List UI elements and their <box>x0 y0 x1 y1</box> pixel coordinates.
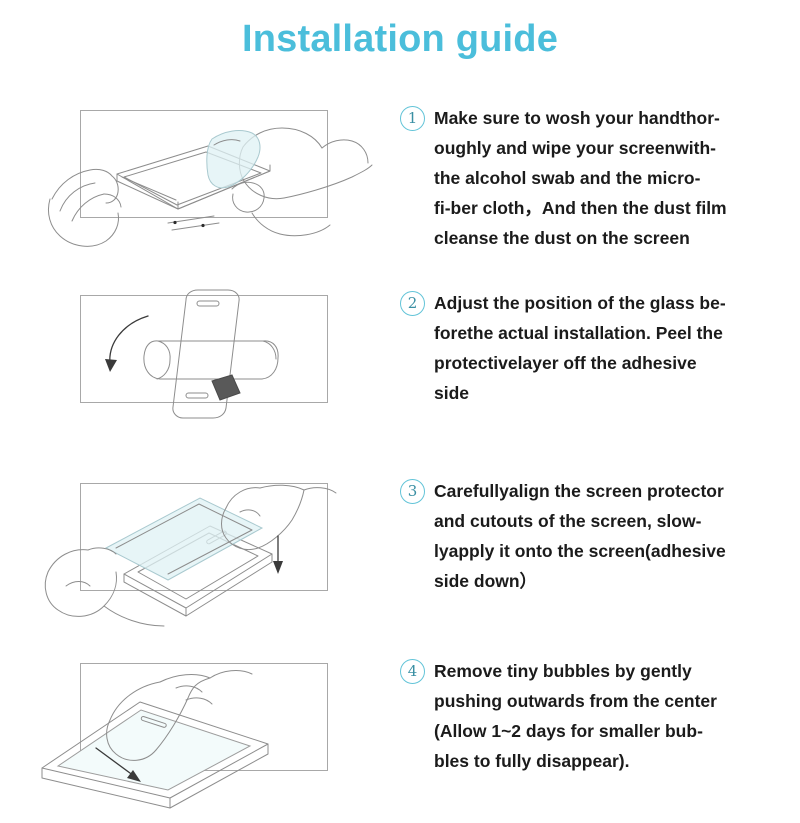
step-number-1: 1 <box>400 106 425 131</box>
illustration-frame-1 <box>80 110 328 218</box>
illustration-frame-4 <box>80 663 328 771</box>
step-row-1: 1 Make sure to wosh your handthor- oughl… <box>0 95 800 270</box>
text-cell-4: 4 Remove tiny bubbles by gently pushing … <box>400 648 800 776</box>
step-text-2: Adjust the position of the glass be- for… <box>434 288 749 408</box>
text-cell-3: 3 Carefullyalign the screen protector an… <box>400 468 800 596</box>
step-row-3: 3 Carefullyalign the screen protector an… <box>0 468 800 643</box>
text-cell-2: 2 Adjust the position of the glass be- f… <box>400 280 800 408</box>
step-text-3: Carefullyalign the screen protector and … <box>434 476 749 596</box>
illustration-cell-3 <box>0 468 400 643</box>
step-row-2: 2 Adjust the position of the glass be- f… <box>0 280 800 455</box>
illustration-frame-3 <box>80 483 328 591</box>
step-number-3: 3 <box>400 479 425 504</box>
step-text-4: Remove tiny bubbles by gently pushing ou… <box>434 656 749 776</box>
illustration-cell-1 <box>0 95 400 270</box>
illustration-cell-2 <box>0 280 400 455</box>
illustration-frame-2 <box>80 295 328 403</box>
step-number-2: 2 <box>400 291 425 316</box>
text-cell-1: 1 Make sure to wosh your handthor- oughl… <box>400 95 800 253</box>
page-title: Installation guide <box>0 18 800 61</box>
step-row-4: 4 Remove tiny bubbles by gently pushing … <box>0 648 800 823</box>
step-text-1: Make sure to wosh your handthor- oughly … <box>434 103 749 253</box>
step-number-4: 4 <box>400 659 425 684</box>
illustration-cell-4 <box>0 648 400 823</box>
